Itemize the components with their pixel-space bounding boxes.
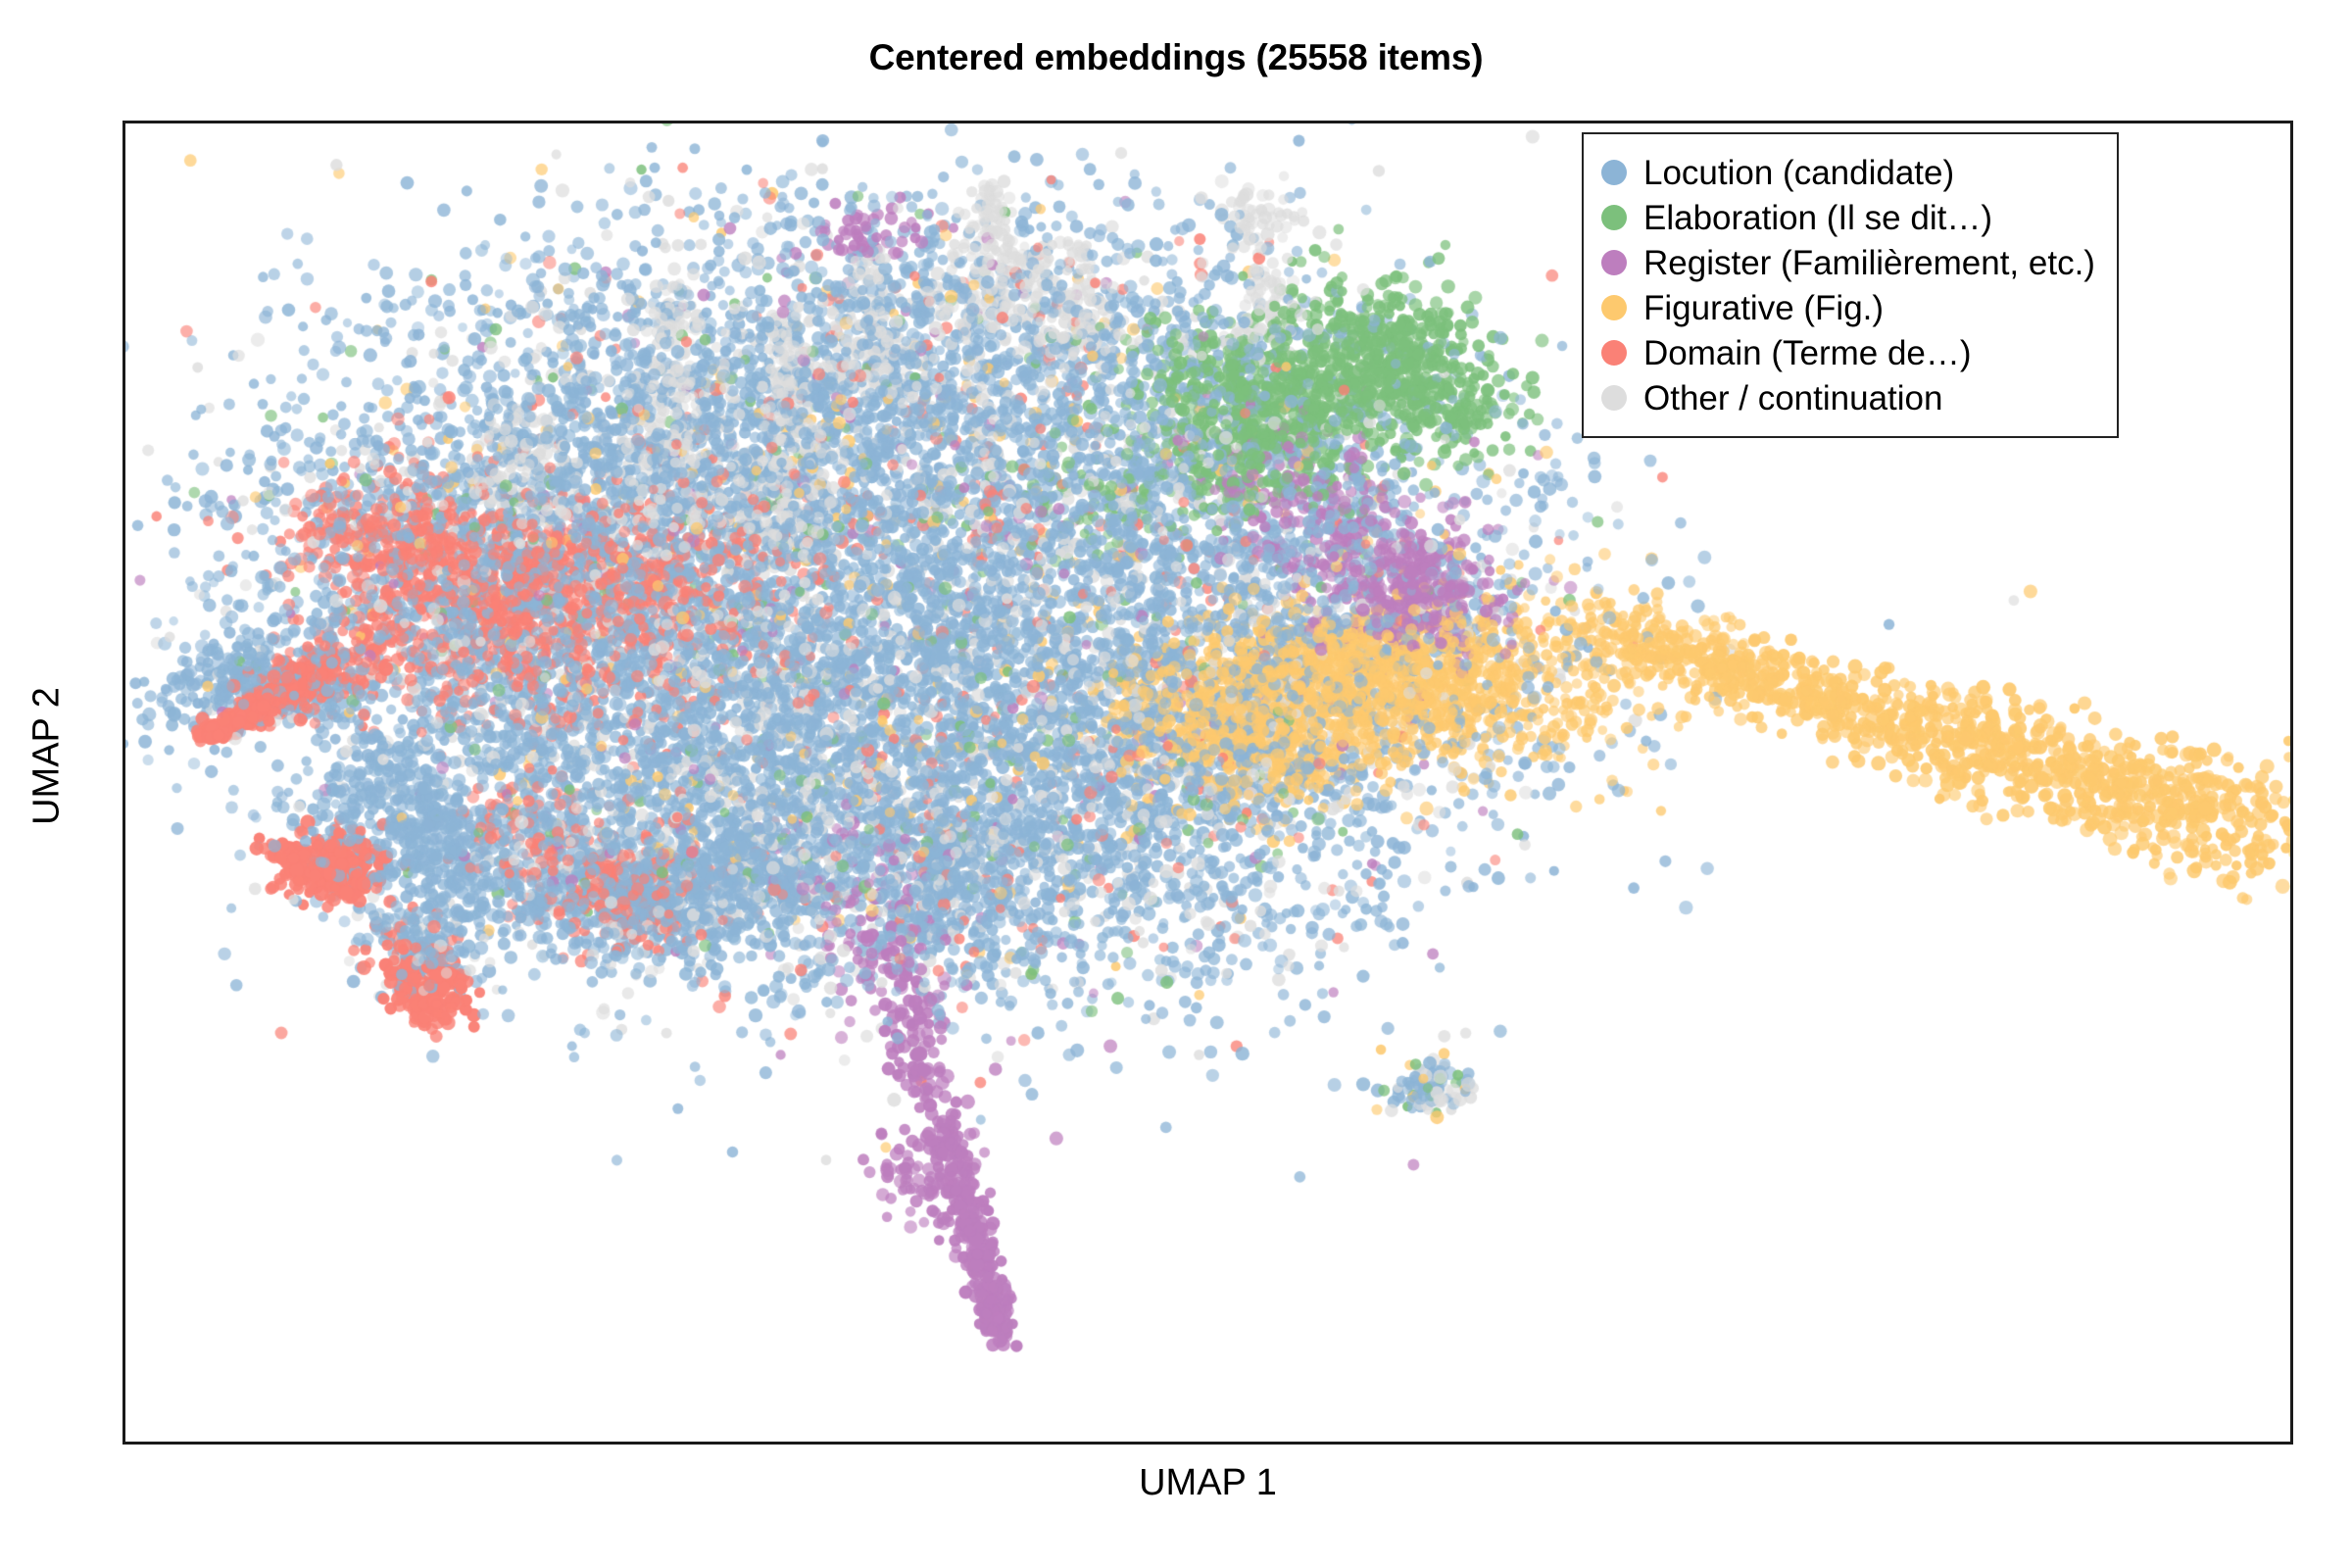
legend-marker-elaboration (1601, 205, 1627, 230)
legend-item-other[interactable]: Other / continuation (1601, 375, 2095, 420)
legend-label-figurative: Figurative (Fig.) (1643, 291, 1884, 325)
legend-label-locution: Locution (candidate) (1643, 156, 1954, 190)
legend-item-figurative[interactable]: Figurative (Fig.) (1601, 285, 2095, 330)
x-axis-label: UMAP 1 (122, 1462, 2293, 1504)
legend-marker-other (1601, 385, 1627, 411)
chart-title: Centered embeddings (25558 items) (0, 37, 2352, 78)
legend-label-elaboration: Elaboration (Il se dit…) (1643, 201, 1992, 235)
legend-marker-figurative (1601, 295, 1627, 320)
legend-marker-domain (1601, 340, 1627, 366)
legend-item-domain[interactable]: Domain (Terme de…) (1601, 330, 2095, 375)
y-axis-label: UMAP 2 (26, 384, 69, 1129)
legend-item-locution[interactable]: Locution (candidate) (1601, 150, 2095, 195)
legend: Locution (candidate) Elaboration (Il se … (1582, 132, 2119, 438)
legend-marker-register (1601, 250, 1627, 275)
legend-item-elaboration[interactable]: Elaboration (Il se dit…) (1601, 195, 2095, 240)
legend-label-other: Other / continuation (1643, 381, 1942, 416)
legend-item-register[interactable]: Register (Familièrement, etc.) (1601, 240, 2095, 285)
legend-label-domain: Domain (Terme de…) (1643, 336, 1972, 370)
legend-marker-locution (1601, 160, 1627, 185)
legend-label-register: Register (Familièrement, etc.) (1643, 246, 2095, 280)
figure-root: Centered embeddings (25558 items) UMAP 2… (0, 0, 2352, 1568)
